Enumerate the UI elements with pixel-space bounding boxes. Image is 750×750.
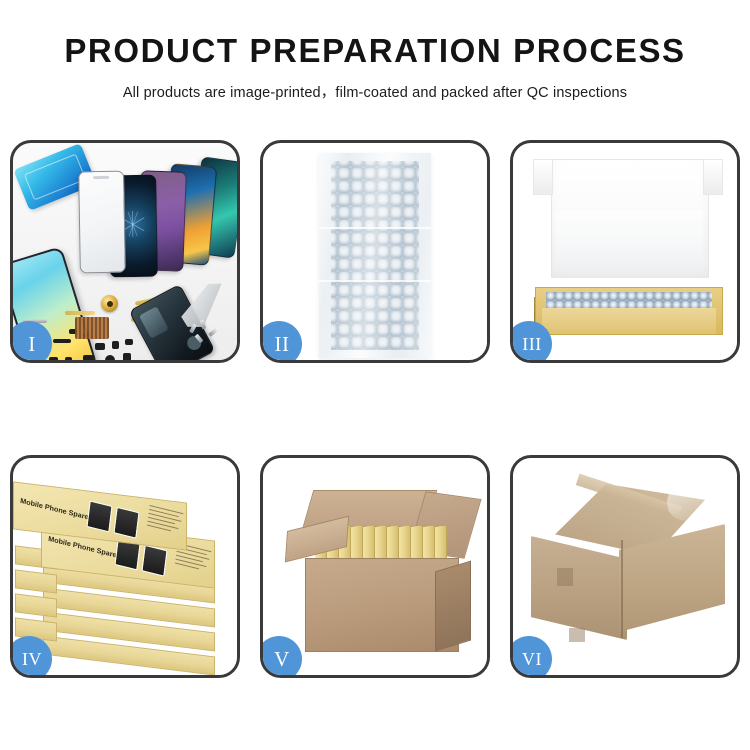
chip-part	[83, 355, 94, 360]
chip-part	[65, 357, 72, 360]
foam-insert	[555, 211, 703, 273]
process-step-panel-6[interactable]: VI	[510, 455, 740, 678]
carton-tab	[569, 628, 585, 642]
screw-icon	[208, 328, 218, 337]
retail-box-stack: Mobile Phone Spare Parts	[13, 470, 237, 670]
mailer-lid-tab-right	[703, 159, 723, 195]
connector-grid-part	[75, 317, 109, 339]
page-header: PRODUCT PREPARATION PROCESS All products…	[0, 0, 750, 102]
phone-screen-print	[141, 545, 167, 577]
step-1-illustration	[13, 143, 237, 360]
screws-group	[189, 320, 223, 346]
page-subtitle: All products are image-printed，film-coat…	[0, 81, 750, 102]
retail-box-lid-face: Mobile Phone Spare Parts	[14, 482, 186, 549]
carton-side-face	[435, 560, 471, 651]
step-4-illustration: Mobile Phone Spare Parts	[13, 458, 237, 675]
screw-icon	[189, 324, 197, 334]
chip-part	[123, 353, 131, 360]
step-badge-2: II	[260, 321, 302, 363]
step-badge-6: VI	[510, 636, 552, 678]
carton-corner-seam	[621, 540, 623, 638]
phone-screen-print	[86, 500, 112, 532]
step-badge-3: III	[510, 321, 552, 363]
step-badge-4: IV	[10, 636, 52, 678]
phone-screen-print	[113, 507, 139, 539]
mailer-lid-tab-left	[533, 159, 553, 195]
process-step-panel-5[interactable]: V	[260, 455, 490, 678]
page-title: PRODUCT PREPARATION PROCESS	[0, 34, 750, 67]
retail-box	[15, 593, 57, 617]
mailer-box-icon	[535, 159, 721, 339]
chip-part	[49, 357, 58, 360]
chip-part	[53, 339, 71, 343]
chip-part	[95, 343, 105, 350]
step-6-illustration	[513, 458, 737, 675]
carton-left-face	[531, 536, 627, 640]
carton-tab	[557, 568, 573, 586]
coil-part-icon	[101, 295, 118, 312]
flex-cable-part	[65, 311, 95, 315]
retail-box-spec-lines	[147, 505, 186, 537]
process-step-panel-2[interactable]: II	[260, 140, 490, 363]
bubble-wrap-pouch-icon	[319, 153, 431, 358]
process-step-panel-1[interactable]: I	[10, 140, 240, 363]
screw-icon	[200, 320, 206, 330]
pouch-seam	[319, 280, 431, 282]
spare-parts-field	[13, 143, 237, 360]
screw-icon	[195, 334, 204, 343]
step-3-illustration	[513, 143, 737, 360]
chip-part	[112, 341, 119, 349]
step-5-illustration	[263, 458, 487, 675]
process-step-panel-4[interactable]: Mobile Phone Spare Parts	[10, 455, 240, 678]
mailer-base	[535, 287, 723, 335]
process-step-panel-3[interactable]: III	[510, 140, 740, 363]
sealed-carton-icon	[529, 484, 725, 656]
chip-part	[125, 339, 133, 345]
step-badge-1: I	[10, 321, 52, 363]
retail-box	[15, 569, 57, 593]
speaker-part	[105, 355, 115, 360]
step-2-illustration	[263, 143, 487, 360]
bubble-field-offset	[331, 161, 419, 350]
process-step-grid: I II	[10, 140, 740, 678]
pouch-seam	[319, 227, 431, 229]
carton-highlight	[664, 476, 723, 523]
step-badge-5: V	[260, 636, 302, 678]
mailer-base-front	[542, 308, 716, 334]
open-carton-icon	[291, 490, 469, 652]
